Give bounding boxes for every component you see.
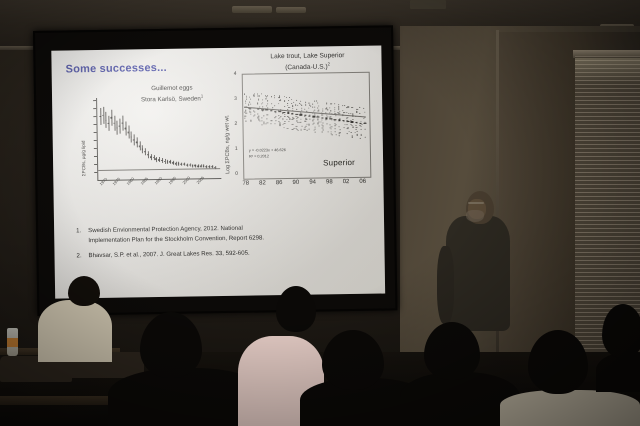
data-point — [304, 121, 305, 122]
data-point — [335, 120, 336, 121]
regression-trendline — [244, 107, 366, 117]
x-tick-label: 90 — [292, 180, 299, 186]
reference-text: Bhavsar, S.P. et al., 2007. J. Great Lak… — [88, 248, 286, 261]
data-point — [296, 128, 297, 129]
data-point — [172, 162, 174, 164]
data-point — [352, 136, 353, 137]
data-point — [245, 103, 246, 104]
data-point — [279, 96, 280, 97]
y-tick — [94, 148, 97, 149]
data-point — [321, 131, 322, 132]
data-point — [351, 124, 352, 125]
series-mean-marker — [261, 109, 264, 110]
data-point — [338, 108, 339, 109]
x-tick-label: 86 — [276, 180, 283, 186]
data-point — [339, 111, 340, 112]
data-point — [197, 166, 199, 168]
data-point — [329, 117, 330, 118]
data-point — [339, 120, 340, 121]
data-point — [287, 119, 288, 120]
data-point — [279, 115, 280, 116]
error-bar — [139, 142, 140, 151]
data-point — [346, 128, 347, 129]
data-point — [309, 108, 310, 109]
series-mean-marker — [317, 117, 320, 118]
data-point — [297, 116, 298, 117]
data-point — [351, 120, 352, 121]
data-point — [305, 101, 306, 102]
data-point — [318, 110, 319, 111]
error-bar — [206, 165, 207, 168]
data-point — [175, 163, 177, 165]
data-point — [356, 109, 357, 110]
data-point — [271, 103, 272, 104]
data-point — [254, 94, 255, 95]
data-point — [249, 109, 250, 110]
data-point — [321, 122, 322, 123]
data-point — [288, 111, 289, 112]
data-point — [258, 116, 259, 117]
data-point — [250, 112, 251, 113]
data-point — [327, 109, 328, 110]
data-point — [280, 116, 281, 117]
error-bar — [148, 151, 149, 157]
error-bar — [131, 131, 132, 142]
data-point — [267, 100, 268, 101]
data-point — [330, 128, 331, 129]
x-tick-label: 02 — [343, 179, 350, 185]
data-point — [346, 112, 347, 113]
data-point — [258, 96, 259, 97]
data-point — [284, 96, 285, 97]
data-point — [334, 123, 335, 124]
error-bar — [209, 165, 210, 168]
data-point — [329, 127, 330, 128]
data-point — [291, 114, 292, 115]
data-point — [343, 112, 344, 113]
data-point — [284, 100, 285, 101]
data-point — [127, 132, 129, 134]
data-point — [344, 127, 345, 128]
data-point — [292, 129, 293, 130]
data-point — [258, 117, 259, 118]
series-mean-marker — [355, 122, 358, 123]
data-point — [246, 96, 247, 97]
data-point — [288, 107, 289, 108]
data-point — [248, 103, 249, 104]
data-point — [339, 113, 340, 114]
data-point — [266, 98, 267, 99]
audience-member-torso — [38, 300, 112, 362]
data-point — [259, 96, 260, 97]
data-point — [296, 100, 297, 101]
data-point — [278, 118, 279, 119]
data-point — [284, 112, 285, 113]
data-point — [249, 101, 250, 102]
data-point — [289, 118, 290, 119]
series-mean-marker — [329, 118, 332, 119]
data-point — [282, 113, 283, 114]
data-point — [326, 108, 327, 109]
data-point — [274, 95, 275, 96]
error-bar — [201, 165, 202, 168]
data-point — [293, 117, 294, 118]
data-point — [347, 124, 348, 125]
data-point — [330, 116, 331, 117]
data-point — [323, 122, 324, 123]
data-point — [178, 163, 180, 165]
data-point — [287, 103, 288, 104]
data-point — [360, 134, 361, 135]
data-point — [280, 109, 281, 110]
chart-ylabel-lake-trout: Log ΣPCBs, ng/g wet wt. — [224, 82, 231, 174]
data-point — [266, 115, 267, 116]
regression-equation-text: y = -0.0223x + 46.626 — [249, 148, 286, 153]
data-point — [245, 110, 246, 111]
y-tick-label: 0 — [235, 171, 238, 177]
data-point — [344, 112, 345, 113]
data-point — [244, 112, 245, 113]
data-point — [283, 110, 284, 111]
data-point — [313, 129, 314, 130]
chart-guillemot-eggs: Guillemot eggs Stora Karlsö, Sweden1 ΣPC… — [78, 82, 228, 199]
data-point — [147, 154, 149, 156]
data-point — [352, 114, 353, 115]
data-point — [304, 126, 305, 127]
data-point — [327, 119, 328, 120]
data-point — [330, 103, 331, 104]
data-point — [297, 121, 298, 122]
data-point — [300, 122, 301, 123]
data-point — [299, 103, 300, 104]
data-point — [326, 102, 327, 103]
data-point — [336, 125, 337, 126]
chart-title-superscript: 2 — [328, 61, 330, 66]
data-point — [310, 118, 311, 119]
data-point — [274, 105, 275, 106]
data-point — [297, 130, 298, 131]
data-point — [141, 148, 143, 150]
x-axis — [97, 178, 221, 181]
data-point — [306, 118, 307, 119]
series-mean-marker — [270, 110, 273, 111]
data-point — [267, 122, 268, 123]
presenter-arm — [437, 246, 454, 324]
data-point — [300, 128, 301, 129]
data-point — [280, 125, 281, 126]
data-point — [348, 117, 349, 118]
data-point — [250, 110, 251, 111]
x-tick-label: 1985 — [139, 176, 149, 186]
audience-member-torso — [500, 390, 640, 426]
y-tick-label: 4 — [234, 71, 237, 77]
data-point — [339, 132, 340, 133]
data-point — [272, 120, 273, 121]
projection-screen: Some successes... Guillemot eggs Stora K… — [33, 25, 397, 316]
data-point — [304, 121, 305, 122]
data-point — [334, 111, 335, 112]
error-bar — [162, 158, 163, 163]
data-point — [272, 109, 273, 110]
data-point — [304, 108, 305, 109]
data-point — [330, 126, 331, 127]
data-point — [280, 100, 281, 101]
data-point — [344, 124, 345, 125]
data-point — [283, 118, 284, 119]
data-point — [257, 96, 258, 97]
series-mean-marker — [300, 114, 303, 115]
chart-title-line2: Stora Karlsö, Sweden — [141, 95, 201, 103]
data-point — [283, 124, 284, 125]
data-point — [352, 119, 353, 120]
data-point — [305, 105, 306, 106]
data-point — [246, 99, 247, 100]
data-point — [246, 97, 247, 98]
data-point — [330, 107, 331, 108]
data-point — [304, 129, 305, 130]
data-point — [355, 129, 356, 130]
data-point — [361, 124, 362, 125]
data-point — [338, 109, 339, 110]
x-tick-label: 1975 — [112, 176, 122, 186]
data-point — [352, 119, 353, 120]
data-point — [347, 120, 348, 121]
data-point — [301, 114, 302, 115]
data-point — [200, 165, 202, 167]
error-bar — [159, 157, 160, 162]
data-point — [258, 115, 259, 116]
data-point — [301, 108, 302, 109]
data-point — [263, 122, 264, 123]
chart-title-line1: Guillemot eggs — [151, 85, 192, 93]
data-point — [325, 120, 326, 121]
data-point — [319, 109, 320, 110]
data-point — [278, 110, 279, 111]
data-point — [364, 108, 365, 109]
data-point — [297, 126, 298, 127]
data-point — [314, 110, 315, 111]
data-point — [279, 100, 280, 101]
series-mean-marker — [295, 114, 298, 115]
error-bar — [142, 145, 143, 153]
data-point — [325, 108, 326, 109]
data-point — [254, 115, 255, 116]
data-point — [319, 125, 320, 126]
data-point — [285, 121, 286, 122]
data-point — [261, 93, 262, 94]
data-point — [274, 123, 275, 124]
data-point — [334, 107, 335, 108]
data-point — [339, 104, 340, 105]
series-mean-marker — [312, 116, 315, 117]
data-point — [284, 106, 285, 107]
data-point — [321, 112, 322, 113]
data-point — [245, 116, 246, 117]
x-tick-label: 1980 — [126, 176, 136, 186]
data-point — [267, 114, 268, 115]
data-point — [301, 113, 302, 114]
data-point — [259, 95, 260, 96]
data-point — [169, 161, 171, 163]
error-bar — [195, 164, 196, 167]
data-point — [116, 127, 118, 129]
data-point — [289, 119, 290, 120]
data-point — [332, 119, 333, 120]
audience-member-head — [68, 276, 100, 306]
data-point — [348, 107, 349, 108]
data-point — [322, 111, 323, 112]
data-point — [161, 160, 163, 162]
error-bar — [108, 116, 109, 131]
chart-ylabel-guillemot: ΣPCBs, µg/g lipid — [80, 108, 86, 176]
audience-member-head — [424, 322, 480, 380]
data-point — [180, 163, 182, 165]
data-point — [316, 101, 317, 102]
data-point — [250, 103, 251, 104]
data-point — [347, 133, 348, 134]
data-point — [292, 109, 293, 110]
data-point — [321, 124, 322, 125]
data-point — [271, 96, 272, 97]
data-point — [336, 135, 337, 136]
error-bar — [136, 137, 137, 147]
error-bar — [184, 162, 185, 166]
data-point — [297, 117, 298, 118]
data-point — [280, 125, 281, 126]
data-point — [327, 119, 328, 120]
data-point — [136, 141, 138, 143]
y-tick — [93, 124, 96, 125]
error-bar — [103, 107, 104, 125]
data-point — [306, 115, 307, 116]
data-point — [250, 109, 251, 110]
series-mean-marker — [283, 112, 286, 113]
y-tick — [94, 132, 97, 133]
data-point — [254, 111, 255, 112]
x-tick-label: 2000 — [181, 175, 191, 185]
data-point — [348, 106, 349, 107]
reference-item: 1. Swedish Envionmental Protection Agenc… — [76, 223, 286, 246]
data-point — [293, 129, 294, 130]
y-tick — [94, 140, 97, 141]
data-point — [342, 116, 343, 117]
data-point — [291, 103, 292, 104]
data-point — [313, 107, 314, 108]
data-point — [357, 134, 358, 135]
data-point — [155, 158, 157, 160]
data-point — [365, 129, 366, 130]
data-point — [259, 107, 260, 108]
data-point — [313, 110, 314, 111]
data-point — [314, 126, 315, 127]
data-point — [348, 128, 349, 129]
x-tick-label: 1970 — [98, 177, 108, 187]
data-point — [164, 161, 166, 163]
error-bar — [145, 148, 146, 155]
data-point — [360, 125, 361, 126]
data-point — [292, 108, 293, 109]
data-point — [292, 106, 293, 107]
data-point — [306, 121, 307, 122]
error-bar — [151, 154, 152, 160]
data-point — [267, 108, 268, 109]
data-point — [245, 101, 246, 102]
data-point — [288, 111, 289, 112]
data-point — [245, 116, 246, 117]
data-point — [262, 110, 263, 111]
data-point — [364, 117, 365, 118]
data-point — [364, 123, 365, 124]
data-point — [347, 107, 348, 108]
data-point — [340, 132, 341, 133]
data-point — [352, 107, 353, 108]
series-mean-marker — [321, 117, 324, 118]
data-point — [301, 130, 302, 131]
y-tick — [93, 108, 96, 109]
data-point — [287, 116, 288, 117]
data-point — [279, 97, 280, 98]
chart-title-line1: Lake trout, Lake Superior — [270, 52, 344, 60]
data-point — [314, 116, 315, 117]
data-point — [305, 128, 306, 129]
data-point — [330, 118, 331, 119]
data-point — [265, 108, 266, 109]
series-mean-marker — [274, 111, 277, 112]
data-point — [357, 130, 358, 131]
data-point — [353, 127, 354, 128]
data-point — [254, 95, 255, 96]
chart-title-line2: (Canada-U.S.) — [285, 63, 328, 71]
data-point — [356, 134, 357, 135]
data-point — [323, 126, 324, 127]
x-axis-tick-labels-lake-trout: 7882869094980206 — [219, 50, 381, 200]
data-point — [330, 131, 331, 132]
slide-title: Some successes... — [66, 62, 167, 76]
data-point — [288, 117, 289, 118]
data-point — [99, 116, 101, 118]
data-point — [305, 115, 306, 116]
series-mean-marker — [278, 111, 281, 112]
data-point — [312, 112, 313, 113]
audience-member-head — [276, 286, 316, 332]
series-mean-marker — [249, 107, 252, 108]
data-point — [250, 120, 251, 121]
error-bar — [212, 165, 213, 168]
data-point — [293, 119, 294, 120]
data-point — [266, 109, 267, 110]
series-mean-marker — [363, 123, 366, 124]
data-point — [130, 136, 132, 138]
data-point — [361, 120, 362, 121]
y-tick-label: 1 — [235, 146, 238, 152]
data-point — [257, 93, 258, 94]
data-point — [317, 118, 318, 119]
data-point — [356, 116, 357, 117]
data-point — [335, 128, 336, 129]
data-point — [262, 102, 263, 103]
data-point — [288, 100, 289, 101]
data-point — [338, 107, 339, 108]
data-point — [352, 137, 353, 138]
data-point — [285, 116, 286, 117]
y-tick — [94, 156, 97, 157]
data-point — [338, 112, 339, 113]
data-point — [312, 124, 313, 125]
data-point — [360, 129, 361, 130]
error-bar — [170, 160, 171, 164]
data-point — [139, 145, 141, 147]
data-point — [352, 116, 353, 117]
